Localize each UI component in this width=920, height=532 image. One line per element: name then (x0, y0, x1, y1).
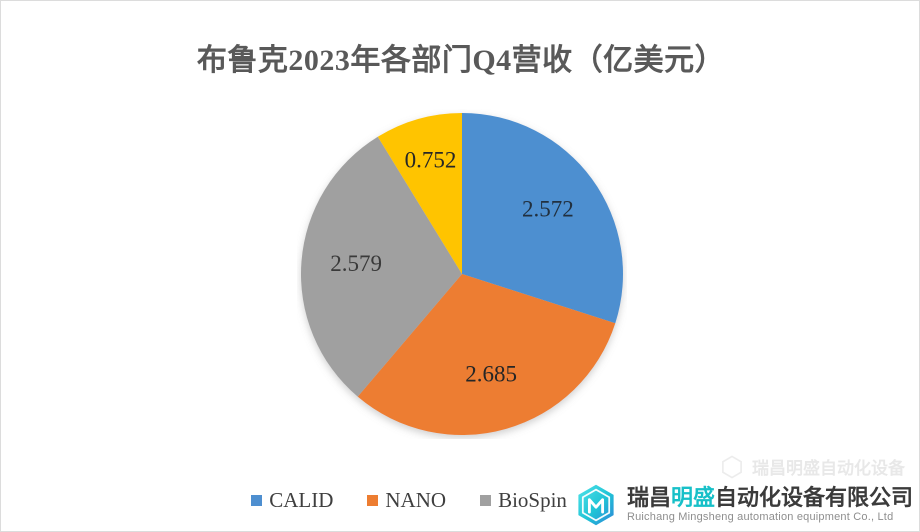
pie-chart-svg: 2.572 2.685 2.579 0.752 (297, 109, 627, 439)
legend-item-biospin[interactable]: BioSpin (480, 490, 567, 511)
ghost-watermark: 瑞昌明盛自动化设备 (720, 454, 905, 479)
pie-label-nano: 2.685 (465, 361, 517, 386)
brand-subtitle: Ruichang Mingsheng automation equipment … (627, 512, 913, 524)
legend-label-biospin: BioSpin (498, 490, 567, 511)
legend-swatch-nano (367, 495, 378, 506)
chart-canvas: 布鲁克2023年各部门Q4营收（亿美元） 2.572 2.685 2.579 0… (0, 0, 920, 532)
pie-label-solid: 0.752 (405, 148, 457, 173)
brand-watermark: 瑞昌明盛自动化设备有限公司 Ruichang Mingsheng automat… (574, 483, 913, 527)
ghost-hexagon-logo-icon (720, 455, 744, 479)
legend-item-nano[interactable]: NANO (367, 490, 446, 511)
brand-name-prefix: 瑞昌 (627, 485, 671, 510)
chart-title: 布鲁克2023年各部门Q4营收（亿美元） (1, 35, 920, 79)
pie-label-calid: 2.572 (522, 197, 574, 222)
brand-name-highlight: 明盛 (671, 485, 715, 510)
ghost-watermark-text: 瑞昌明盛自动化设备 (752, 454, 905, 479)
pie-chart: 2.572 2.685 2.579 0.752 (297, 109, 627, 439)
hexagon-logo-icon (574, 483, 618, 527)
brand-name: 瑞昌明盛自动化设备有限公司 (627, 486, 913, 509)
pie-label-biospin: 2.579 (330, 251, 382, 276)
legend-label-nano: NANO (385, 490, 446, 511)
legend-label-calid: CALID (269, 490, 333, 511)
legend-swatch-biospin (480, 495, 491, 506)
brand-name-suffix: 自动化设备有限公司 (715, 485, 913, 510)
brand-watermark-text: 瑞昌明盛自动化设备有限公司 Ruichang Mingsheng automat… (627, 486, 913, 524)
legend-item-calid[interactable]: CALID (251, 490, 333, 511)
legend-swatch-calid (251, 495, 262, 506)
